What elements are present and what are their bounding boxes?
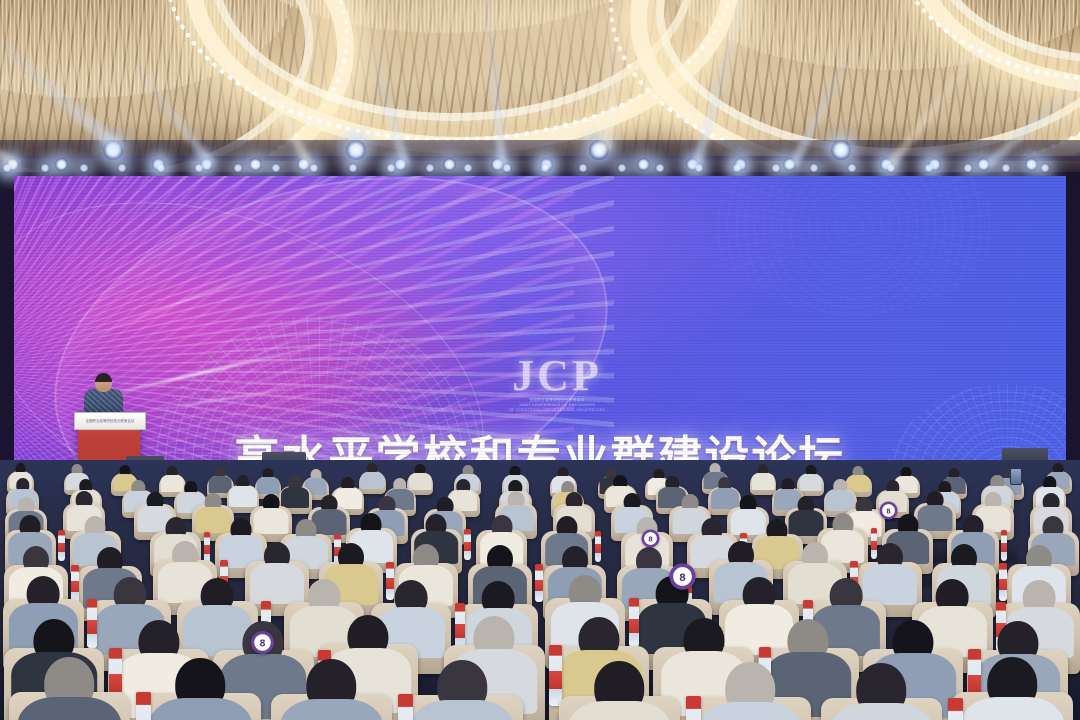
- audience-member: [258, 468, 278, 494]
- screen-wireframe-sphere-topright: [714, 176, 994, 316]
- audience-member: [835, 663, 927, 720]
- audience-member-torso: [568, 701, 671, 720]
- stage-lamp-lower: [348, 163, 358, 173]
- event-logo-subtext: 全国职业高等院校校长联席会议 JOINT CONFERENCE OF PRESI…: [472, 397, 642, 412]
- audience-member: [283, 476, 308, 508]
- event-logo-wordmark: JCP: [472, 356, 642, 396]
- seat-number-marker: 8: [669, 563, 695, 589]
- seat-number-marker: 8: [642, 530, 660, 548]
- conference-photo: JCP 全国职业高等院校校长联席会议 JOINT CONFERENCE OF P…: [0, 0, 1080, 720]
- audience-member: [416, 660, 508, 720]
- audience-member: [362, 463, 382, 489]
- water-bottle: [1001, 530, 1008, 561]
- audience-member-torso: [149, 698, 252, 720]
- podium-placard-text: 全国职业高等院校校长联席会议: [86, 419, 135, 423]
- audience-member-torso: [799, 474, 822, 491]
- audience-member: [704, 662, 796, 720]
- event-logo-subtext-line-3: OF VOCATIONAL COLLEGES AND UNIVERSITIES: [479, 407, 635, 412]
- stage-lamp: [55, 158, 68, 171]
- stage-lamp-lower: [540, 163, 550, 173]
- water-bottle: [549, 645, 562, 706]
- audience-member: [231, 475, 256, 507]
- stage-lamp-lower: [809, 163, 819, 173]
- stage-lamp-lower: [963, 163, 973, 173]
- audience-member: [285, 659, 377, 720]
- audience-member: [753, 464, 773, 490]
- stage-lamp-lower: [156, 163, 166, 173]
- stage-lamp-lower: [425, 163, 435, 173]
- audience-member: [801, 465, 821, 491]
- audience-member-torso: [229, 486, 257, 507]
- audience-member-torso: [411, 700, 514, 720]
- audience-member-torso: [280, 699, 383, 720]
- audience-member-torso: [699, 702, 802, 720]
- stage-lamp-lower: [233, 163, 243, 173]
- audience-member: [573, 661, 665, 720]
- seat-number-marker: 8: [251, 631, 274, 654]
- audience-member: [23, 657, 115, 720]
- audience-member-torso: [830, 703, 933, 720]
- stage-lamp-lower: [617, 163, 627, 173]
- speaker-head: [95, 373, 112, 392]
- stage-lamp-lower: [271, 163, 281, 173]
- water-bottle: [686, 696, 701, 720]
- event-logo-subtext-line-2: JOINT CONFERENCE OF PRESIDENTS: [479, 402, 635, 407]
- water-bottle: [136, 692, 151, 720]
- stage-lamp: [637, 158, 650, 171]
- audience-member: [966, 657, 1058, 720]
- stage-lamp: [346, 140, 366, 160]
- event-logo-subtext-line-1: 全国职业高等院校校长联席会议: [479, 397, 635, 402]
- led-stage-screen: JCP 全国职业高等院校校长联席会议 JOINT CONFERENCE OF P…: [14, 176, 1066, 470]
- attendee-phone: [1010, 468, 1022, 485]
- audience-member-torso: [18, 697, 121, 720]
- audience-member: [154, 658, 246, 720]
- audience-member-torso: [961, 697, 1064, 720]
- audience-member-torso: [752, 473, 775, 490]
- water-bottle: [999, 563, 1007, 601]
- water-bottle: [535, 564, 543, 602]
- stage-lamp-lower: [79, 163, 89, 173]
- stage-lamp: [443, 158, 456, 171]
- water-bottle: [948, 698, 963, 720]
- stage-lamp-lower: [771, 163, 781, 173]
- stage-lamp: [249, 158, 262, 171]
- seat-number-marker: 8: [880, 502, 898, 520]
- audience-member: [210, 467, 230, 493]
- water-bottle: [398, 694, 413, 720]
- audience-member: [410, 464, 430, 490]
- audience-member-torso: [257, 477, 280, 494]
- stage-lamp-lower: [1040, 163, 1050, 173]
- water-bottle: [464, 529, 471, 560]
- audience-area: 8888: [0, 460, 1080, 720]
- audience-member-torso: [361, 472, 384, 489]
- podium-placard: 全国职业高等院校校长联席会议: [74, 412, 146, 430]
- event-logo: JCP 全国职业高等院校校长联席会议 JOINT CONFERENCE OF P…: [472, 356, 642, 412]
